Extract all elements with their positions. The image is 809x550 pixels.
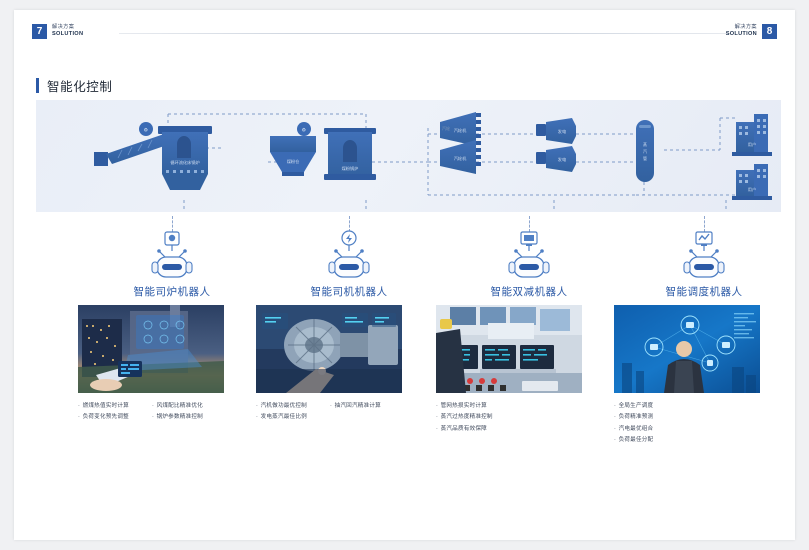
page-header: 7 解决方案 SOLUTION 解决方案 SOLUTION 8 bbox=[14, 10, 795, 48]
card-bullets-1: 汽机做功最优控制 抽汽回汽精准计算 发电蒸汽最佳比例 bbox=[256, 402, 402, 422]
robot-row: 智能司炉机器人 智能司机机器人 bbox=[36, 216, 781, 296]
diagram-node-conveyor bbox=[94, 134, 170, 166]
bullet-item: 燃煤热值实时计算 bbox=[78, 402, 146, 410]
diagram-label-generator-2: 发电 bbox=[558, 156, 567, 163]
bullet-item: 负荷精准预测 bbox=[614, 413, 760, 421]
card-bullets-3: 全局生产调度 负荷精准预测 汽电最优组合 负荷最佳分配 bbox=[614, 402, 760, 445]
card-photo-2 bbox=[436, 305, 582, 393]
bullet-item: 负荷最佳分配 bbox=[614, 436, 760, 444]
diagram-node-user-1: 用户 bbox=[732, 114, 772, 156]
sensor-glyph-2: ⚙ bbox=[302, 128, 307, 134]
diagram-node-boiler-1: 循环流化床锅炉 bbox=[158, 126, 212, 190]
robot-reducer-icon bbox=[503, 230, 555, 287]
diagram-label-generator-1: 发电 bbox=[558, 128, 567, 135]
header-right-text: 解决方案 SOLUTION bbox=[726, 24, 757, 39]
diagram-flow-label-1: 汽轮 bbox=[442, 125, 450, 131]
diagram-canvas: 循环流化床锅炉 ⚙ 煤粉仓 ⚙ 煤粉锅炉 bbox=[36, 100, 781, 212]
header-left-cn: 解决方案 bbox=[52, 24, 83, 31]
card-photo-1 bbox=[256, 305, 402, 393]
diagram-label-turbine-1: 汽轮机 bbox=[454, 127, 467, 134]
diagram-node-generator-2: 发电 bbox=[536, 146, 576, 172]
robot-boiler-icon bbox=[146, 230, 198, 287]
robot-dispatch-icon bbox=[678, 230, 730, 287]
diagram-label-turbine-2: 汽轮机 bbox=[454, 155, 467, 162]
card-photo-0 bbox=[78, 305, 224, 393]
bullet-item: 负荷变化预先调整 bbox=[78, 413, 146, 421]
diagram-node-user-2: 用户 bbox=[732, 164, 772, 200]
card-bullets-2: 管网热损实时计算 蒸汽过热度精准控制 蒸汽品质有效保障 bbox=[436, 402, 582, 433]
diagram-label-user-2: 用户 bbox=[748, 186, 756, 193]
card-0: 燃煤热值实时计算 风煤配比精准优化 负荷变化预先调整 锅炉参数精准控制 bbox=[78, 305, 224, 422]
svg-text:管: 管 bbox=[643, 155, 647, 161]
header-divider bbox=[119, 33, 731, 34]
bullet-item: 蒸汽过热度精准控制 bbox=[436, 413, 582, 421]
bullet-item: 风煤配比精准优化 bbox=[152, 402, 220, 410]
bullet-item: 锅炉参数精准控制 bbox=[152, 413, 220, 421]
diagram-node-turbine-2: 汽轮机 bbox=[440, 140, 481, 174]
card-photo-3 bbox=[614, 305, 760, 393]
bullet-item: 汽电最优组合 bbox=[614, 425, 760, 433]
bullet-item: 管网热损实时计算 bbox=[436, 402, 582, 410]
slide-page: 7 解决方案 SOLUTION 解决方案 SOLUTION 8 智能化控制 bbox=[14, 10, 795, 540]
section-heading: 智能化控制 bbox=[36, 76, 113, 95]
bullet-item: 抽汽回汽精准计算 bbox=[330, 402, 398, 410]
header-left-en: SOLUTION bbox=[52, 31, 83, 39]
header-right-en: SOLUTION bbox=[726, 31, 757, 39]
bullet-item: 全局生产调度 bbox=[614, 402, 760, 410]
robot-label-3: 智能调度机器人 bbox=[616, 284, 792, 299]
card-bullets-0: 燃煤热值实时计算 风煤配比精准优化 负荷变化预先调整 锅炉参数精准控制 bbox=[78, 402, 224, 422]
process-diagram: 循环流化床锅炉 ⚙ 煤粉仓 ⚙ 煤粉锅炉 bbox=[36, 100, 781, 212]
robot-label-0: 智能司炉机器人 bbox=[84, 284, 260, 299]
bullet-item: 汽机做功最优控制 bbox=[256, 402, 324, 410]
header-right-cn: 解决方案 bbox=[726, 24, 757, 31]
header-left-group: 7 解决方案 SOLUTION bbox=[32, 24, 83, 39]
header-right-group: 解决方案 SOLUTION 8 bbox=[726, 24, 777, 39]
svg-text:汽: 汽 bbox=[643, 148, 647, 154]
robot-label-2: 智能双减机器人 bbox=[441, 284, 617, 299]
card-1: 汽机做功最优控制 抽汽回汽精准计算 发电蒸汽最佳比例 bbox=[256, 305, 402, 422]
diagram-node-heat-exchanger: 蒸 汽 管 bbox=[636, 120, 654, 182]
section-accent-bar bbox=[36, 78, 39, 93]
diagram-node-boiler-2: 煤粉锅炉 bbox=[324, 128, 376, 180]
page-title: 智能化控制 bbox=[47, 76, 113, 95]
card-2: 管网热损实时计算 蒸汽过热度精准控制 蒸汽品质有效保障 bbox=[436, 305, 582, 433]
robot-driver-icon bbox=[323, 230, 375, 287]
card-3: 全局生产调度 负荷精准预测 汽电最优组合 负荷最佳分配 bbox=[614, 305, 760, 445]
diagram-label-boiler-1: 循环流化床锅炉 bbox=[170, 159, 199, 166]
card-row: 燃煤热值实时计算 风煤配比精准优化 负荷变化预先调整 锅炉参数精准控制 bbox=[36, 305, 781, 455]
diagram-node-coal-bunker: 煤粉仓 bbox=[270, 136, 316, 176]
diagram-node-generator-1: 发电 bbox=[536, 118, 576, 144]
diagram-label-coal-bunker: 煤粉仓 bbox=[287, 158, 300, 165]
bullet-item: 蒸汽品质有效保障 bbox=[436, 425, 582, 433]
diagram-label-user-1: 用户 bbox=[748, 141, 756, 148]
bullet-item: 发电蒸汽最佳比例 bbox=[256, 413, 324, 421]
diagram-label-heat-exchanger: 蒸 bbox=[643, 141, 647, 147]
diagram-label-boiler-2: 煤粉锅炉 bbox=[342, 165, 359, 172]
sensor-glyph-1: ⚙ bbox=[144, 128, 149, 134]
robot-label-1: 智能司机机器人 bbox=[261, 284, 437, 299]
header-right-number: 8 bbox=[762, 24, 777, 39]
header-left-text: 解决方案 SOLUTION bbox=[52, 24, 83, 39]
header-left-number: 7 bbox=[32, 24, 47, 39]
